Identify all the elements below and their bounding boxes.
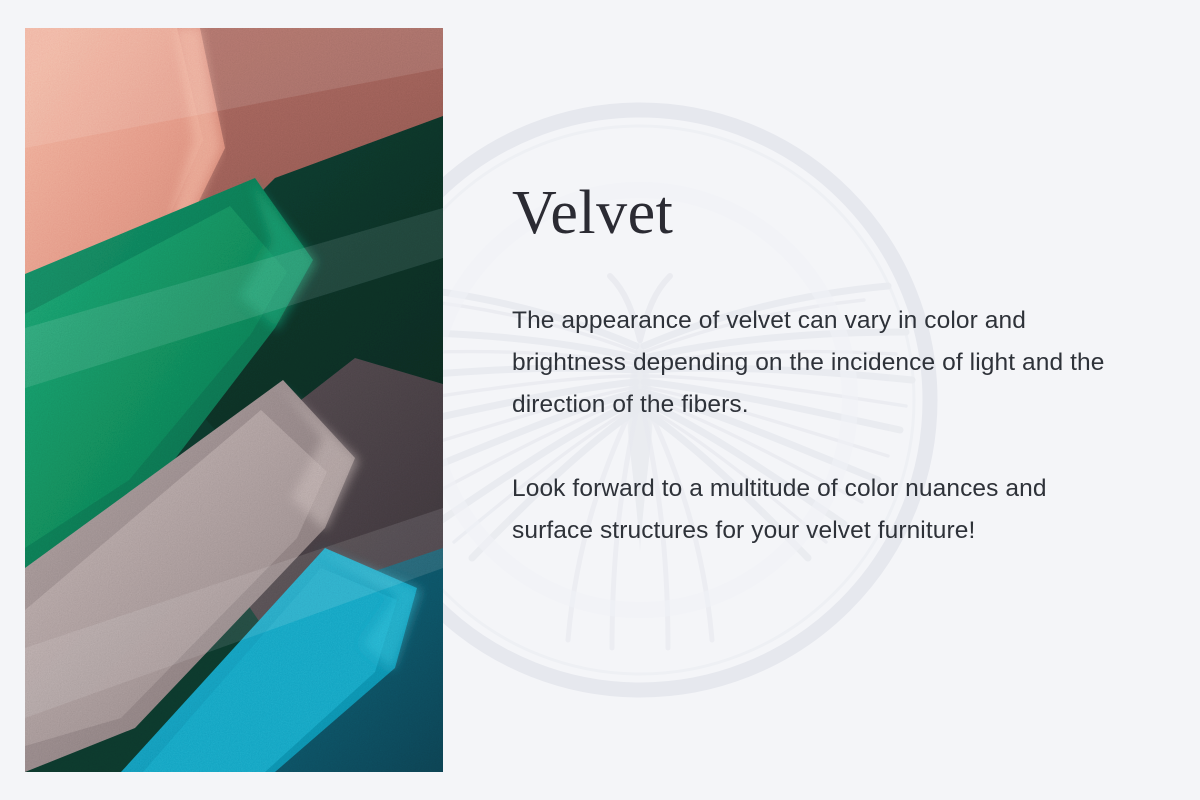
page-title: Velvet (512, 182, 1112, 244)
description-paragraph-1: The appearance of velvet can vary in col… (512, 300, 1112, 426)
velvet-feature-page: Velvet The appearance of velvet can vary… (0, 0, 1200, 800)
description-paragraph-2: Look forward to a multitude of color nua… (512, 468, 1112, 552)
text-content-column: Velvet The appearance of velvet can vary… (512, 182, 1112, 552)
velvet-swatches-photo (25, 28, 443, 772)
